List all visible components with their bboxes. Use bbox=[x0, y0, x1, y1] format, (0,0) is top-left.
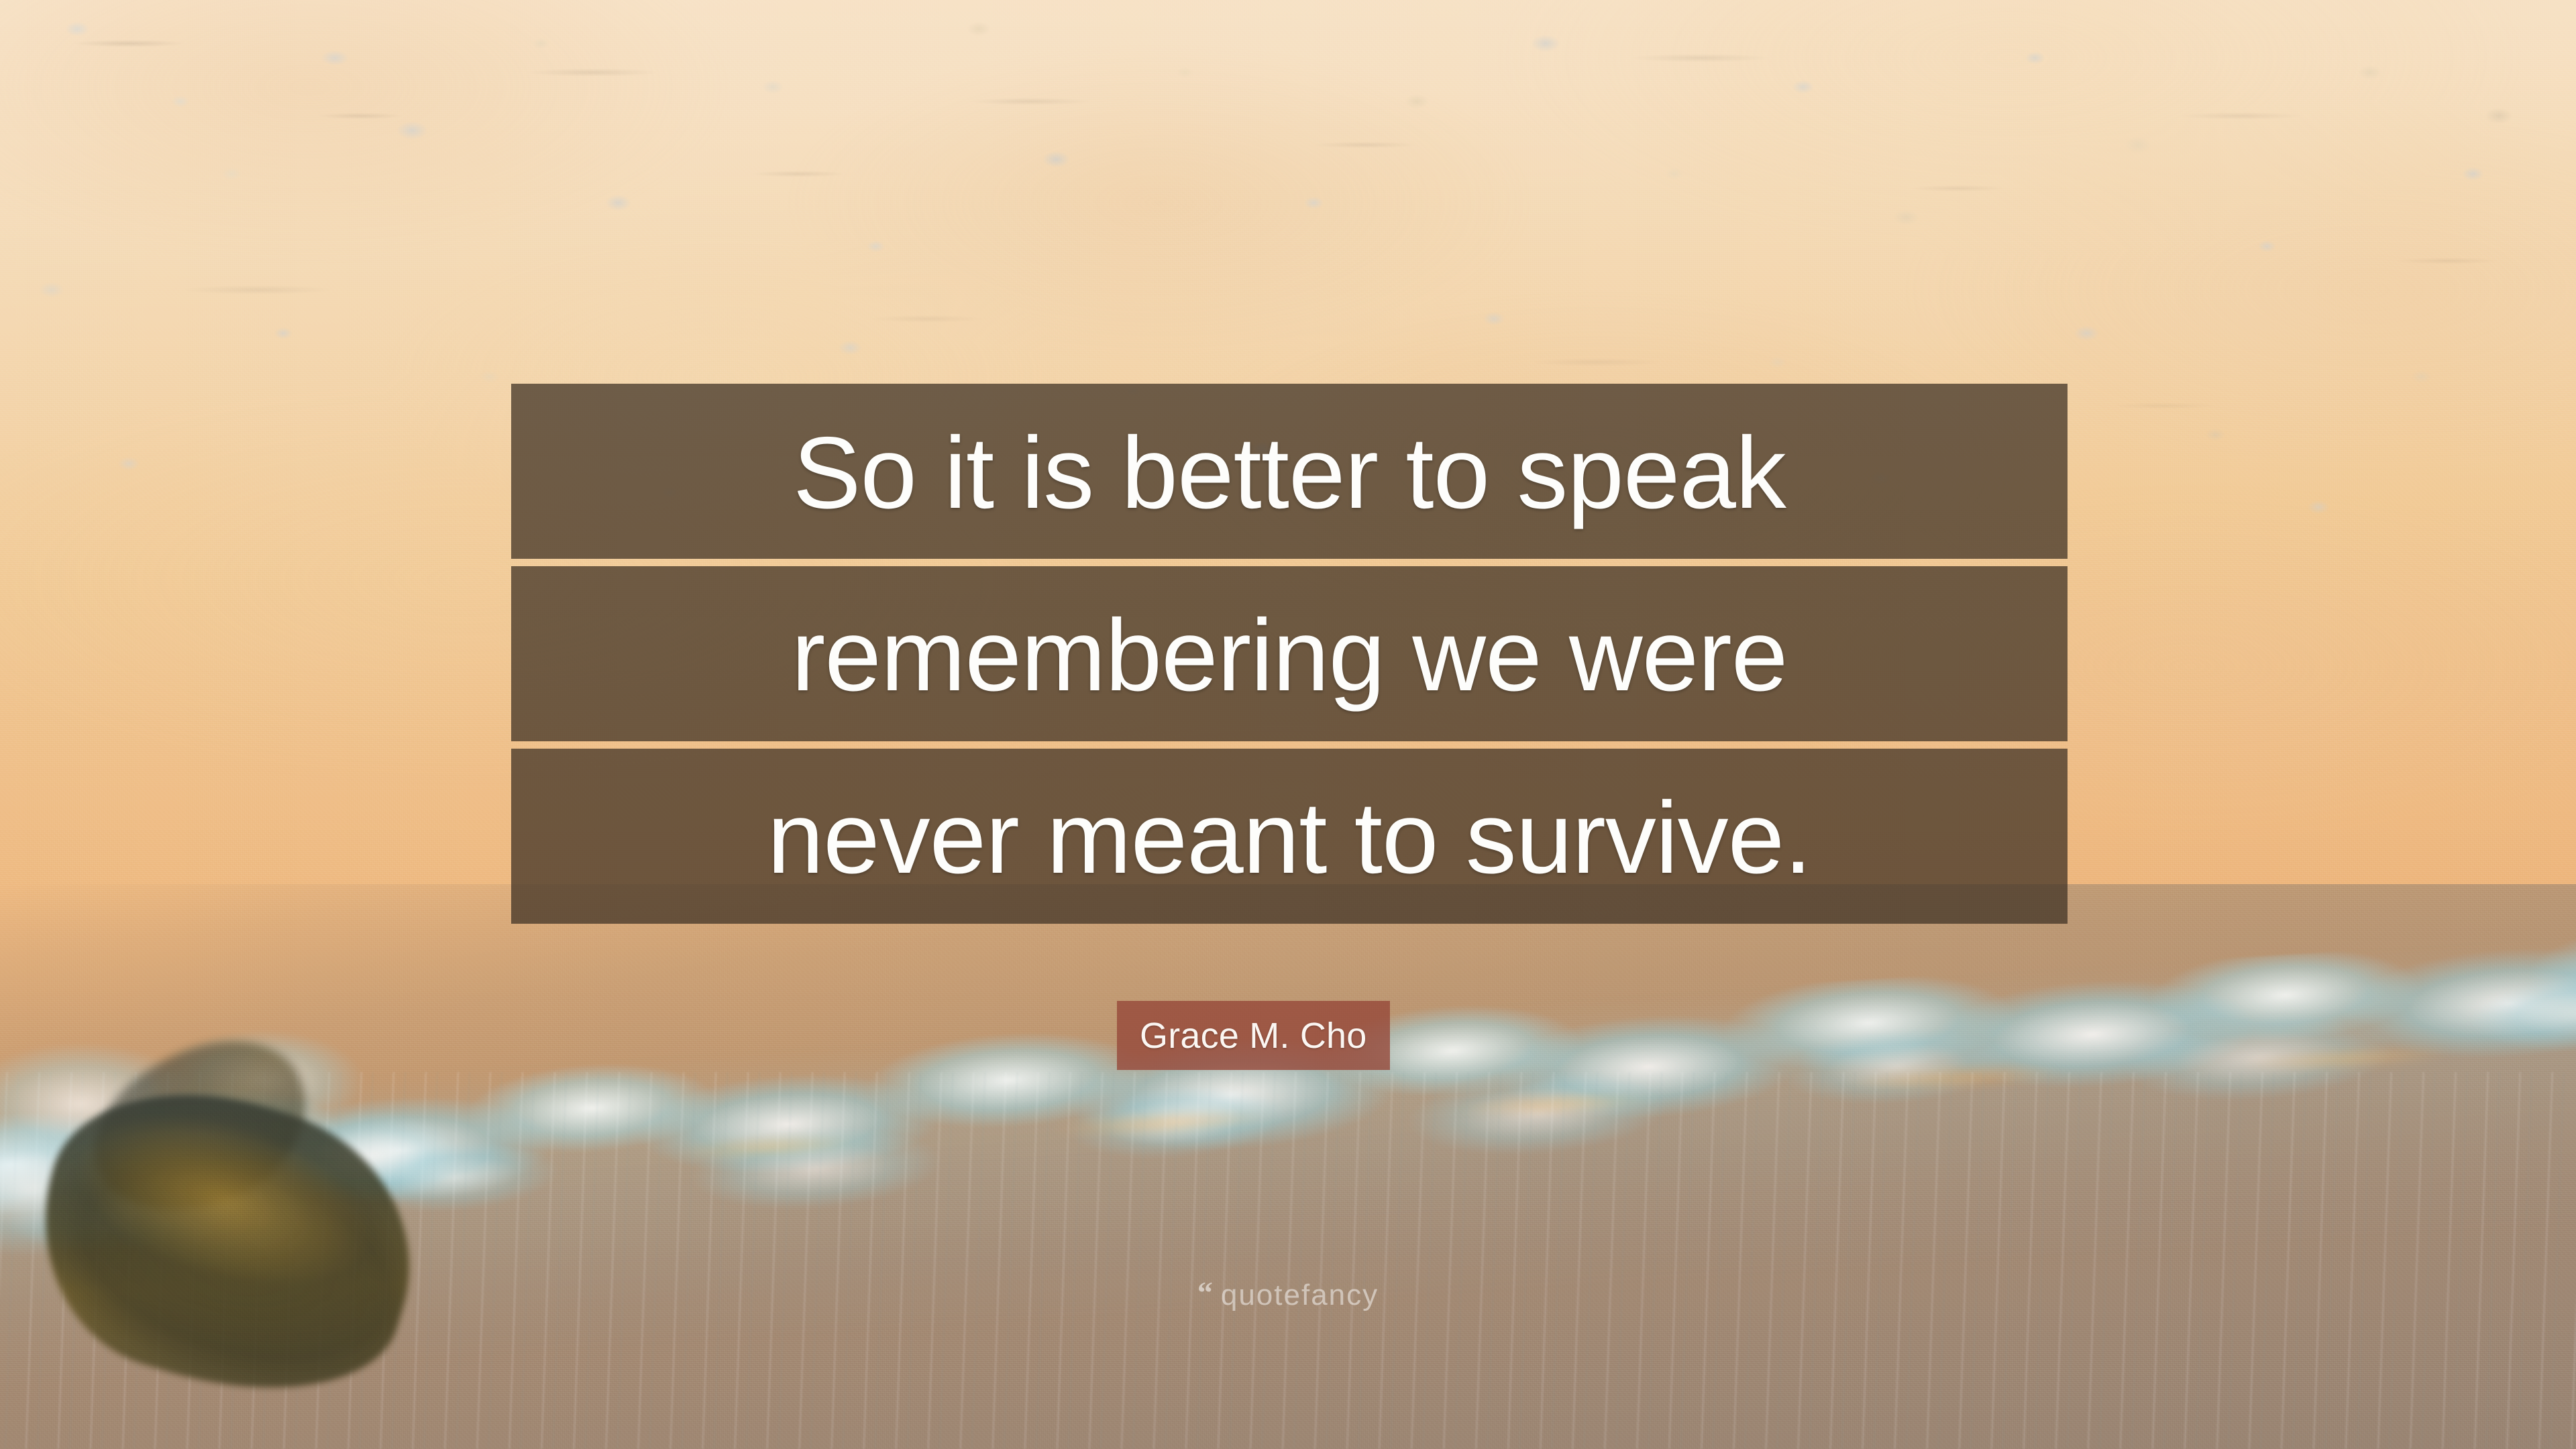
quote-mark-icon: “ bbox=[1197, 1277, 1212, 1308]
quote-poster: So it is better to speak remembering we … bbox=[0, 0, 2576, 1449]
watermark: “ quotefancy bbox=[1197, 1280, 1379, 1311]
author-name: Grace M. Cho bbox=[1140, 1018, 1367, 1054]
quote-block: So it is better to speak remembering we … bbox=[511, 384, 2068, 924]
author-badge: Grace M. Cho bbox=[1117, 1001, 1390, 1070]
quote-line-3: never meant to survive. bbox=[511, 749, 2068, 924]
quote-line-2: remembering we were bbox=[511, 566, 2068, 741]
watermark-brand-text: quotefancy bbox=[1221, 1281, 1379, 1310]
quote-line-1: So it is better to speak bbox=[511, 384, 2068, 559]
